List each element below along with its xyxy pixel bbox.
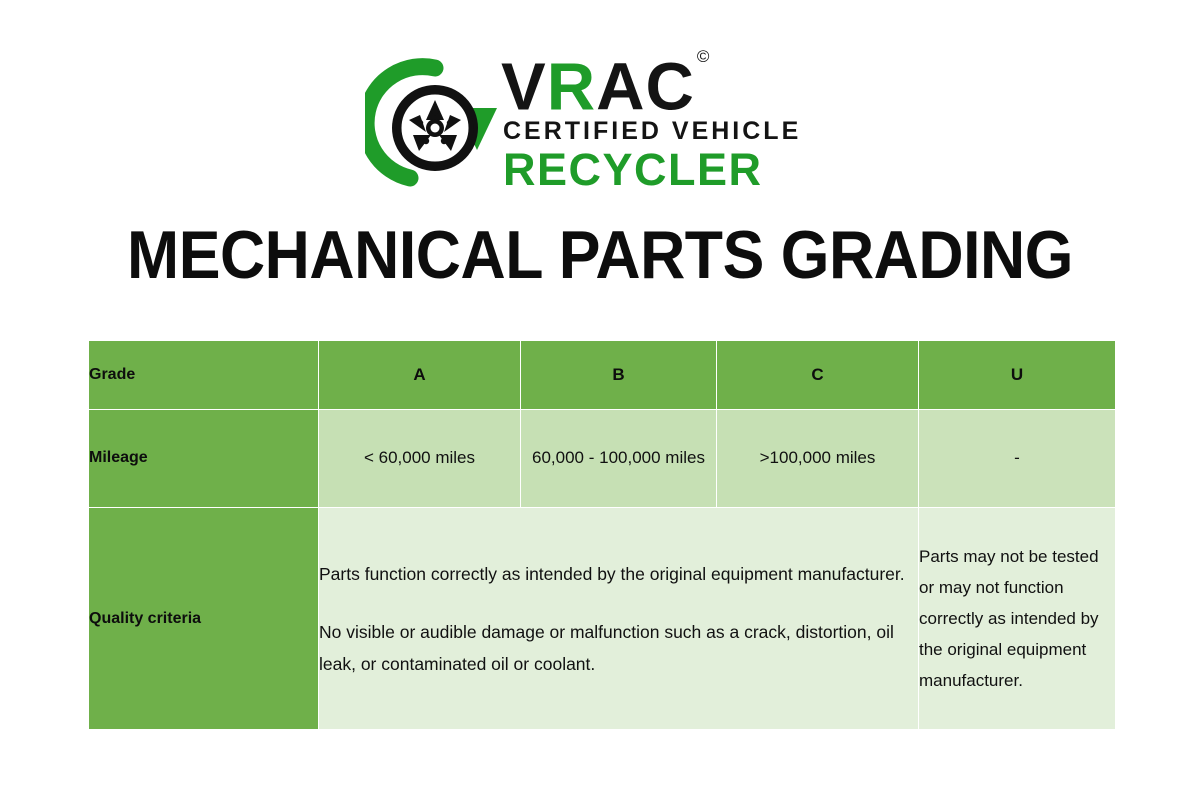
logo-letter-v: V	[501, 49, 547, 124]
mileage-cell-c: >100,000 miles	[717, 409, 919, 508]
logo-tagline: CERTIFIED VEHICLE	[503, 117, 801, 146]
quality-paragraph-1: Parts function correctly as intended by …	[319, 558, 918, 590]
mileage-cell-b: 60,000 - 100,000 miles	[521, 409, 717, 508]
logo-vrac-text: VRAC©	[501, 46, 707, 122]
logo-letters-ac: AC	[596, 49, 695, 124]
table-header-row: Grade A B C U	[89, 341, 1116, 410]
header-cell-a: A	[319, 341, 521, 410]
header-cell-grade: Grade	[89, 341, 319, 410]
row-label-quality-criteria: Quality criteria	[89, 508, 319, 730]
header-cell-b: B	[521, 341, 717, 410]
quality-paragraph-2: No visible or audible damage or malfunct…	[319, 616, 918, 680]
quality-cell-u: Parts may not be tested or may not funct…	[919, 508, 1116, 730]
quality-cell-abc: Parts function correctly as intended by …	[319, 508, 919, 730]
mileage-cell-u: -	[919, 409, 1116, 508]
logo-wordmark: VRAC© CERTIFIED VEHICLE RECYCLER	[501, 48, 841, 198]
copyright-icon: ©	[697, 47, 710, 66]
table-row-quality-criteria: Quality criteria Parts function correctl…	[89, 508, 1116, 730]
vrac-wheel-arrow-icon	[365, 54, 505, 194]
logo-letter-r: R	[547, 49, 596, 124]
page-title: MECHANICAL PARTS GRADING	[48, 216, 1152, 294]
mileage-cell-a: < 60,000 miles	[319, 409, 521, 508]
mechanical-parts-grading-table: Grade A B C U Mileage < 60,000 miles 60,…	[88, 340, 1116, 730]
table-row-mileage: Mileage < 60,000 miles 60,000 - 100,000 …	[89, 409, 1116, 508]
logo-block: VRAC© CERTIFIED VEHICLE RECYCLER	[0, 48, 1200, 198]
logo-recycler-text: RECYCLER	[503, 144, 763, 196]
header-cell-c: C	[717, 341, 919, 410]
row-label-mileage: Mileage	[89, 409, 319, 508]
header-cell-u: U	[919, 341, 1116, 410]
